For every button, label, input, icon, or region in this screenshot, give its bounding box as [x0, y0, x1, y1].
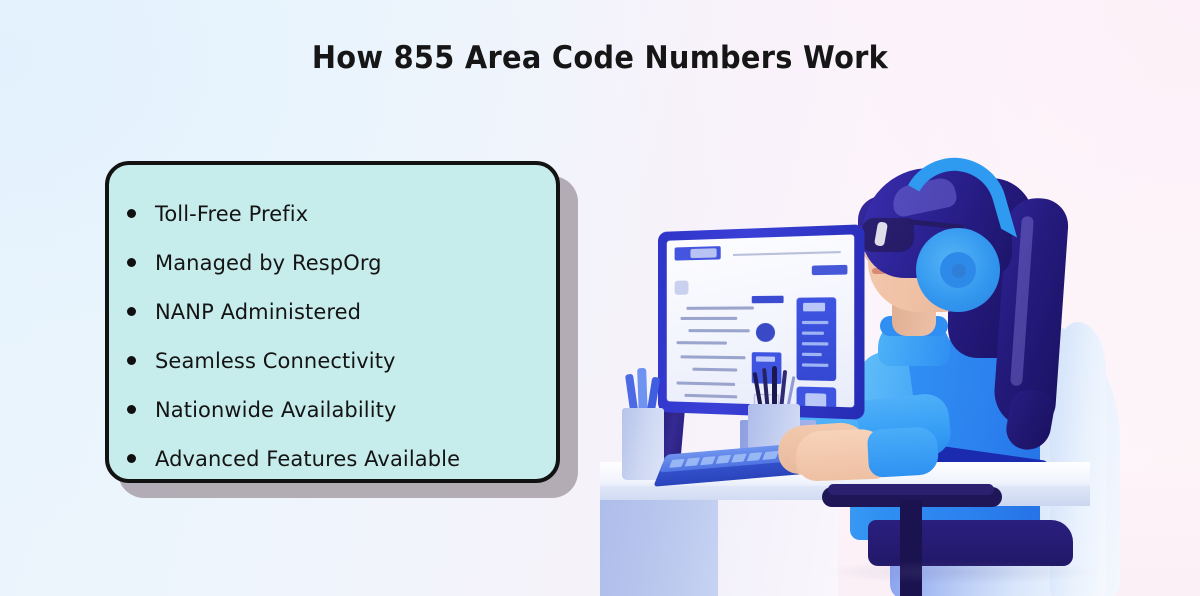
- list-item: Toll-Free Prefix: [109, 189, 556, 238]
- bullet-dot-icon: [127, 209, 136, 218]
- sweater-cuff: [867, 426, 939, 478]
- screen-avatar: [675, 280, 689, 294]
- floor-shadow: [820, 560, 1100, 584]
- bullet-label: NANP Administered: [155, 300, 361, 324]
- screen-logo-text: [690, 248, 716, 258]
- bullet-label: Advanced Features Available: [155, 447, 460, 471]
- bullet-dot-icon: [127, 405, 136, 414]
- bullet-dot-icon: [127, 454, 136, 463]
- screen-panel-row: [802, 353, 822, 356]
- feature-card: Toll-Free Prefix Managed by RespOrg NANP…: [105, 161, 560, 483]
- list-item: NANP Administered: [109, 287, 556, 336]
- screen-panel-row: [802, 342, 828, 345]
- bullet-label: Managed by RespOrg: [155, 251, 382, 275]
- screen-panel-row: [802, 363, 828, 367]
- desktop-monitor: [658, 224, 864, 419]
- desk-side-panel: [718, 500, 838, 596]
- keyboard-key: [700, 456, 716, 465]
- screen-text-line: [681, 355, 746, 359]
- keyboard-key: [732, 453, 748, 462]
- screen-text-line: [677, 381, 736, 386]
- bullet-label: Toll-Free Prefix: [155, 202, 308, 226]
- screen-footer-tile-inner: [805, 393, 826, 407]
- screen-text-line: [686, 306, 753, 309]
- screen-text-line: [692, 368, 737, 372]
- infographic-canvas: How 855 Area Code Numbers Work Toll-Free…: [0, 0, 1200, 596]
- list-item: Nationwide Availability: [109, 385, 556, 434]
- screen-title-chip: [752, 296, 784, 304]
- bullet-label: Nationwide Availability: [155, 398, 397, 422]
- headphone-earcup-core: [952, 264, 966, 278]
- screen-text-line: [688, 329, 749, 332]
- desk-leg-panel: [600, 500, 720, 596]
- screen-card-tile-label: [756, 356, 775, 362]
- keyboard-key: [747, 452, 763, 461]
- keyboard-key: [685, 457, 701, 466]
- list-item: Managed by RespOrg: [109, 238, 556, 287]
- list-item: Advanced Features Available: [109, 434, 556, 483]
- screen-text-line: [677, 341, 727, 344]
- bullet-dot-icon: [127, 356, 136, 365]
- screen-action-button: [812, 265, 848, 275]
- pen-cup-left: [622, 408, 664, 480]
- list-item: Seamless Connectivity: [109, 336, 556, 385]
- workspace-illustration: [600, 0, 1200, 596]
- bullet-dot-icon: [127, 307, 136, 316]
- screen-panel-row: [802, 321, 828, 324]
- bullet-label: Seamless Connectivity: [155, 349, 396, 373]
- screen-header-rule: [733, 251, 841, 256]
- keyboard-key: [763, 450, 779, 459]
- screen-text-line: [679, 406, 742, 408]
- office-chair-armrest-pad: [828, 484, 994, 495]
- keyboard-key: [716, 454, 732, 463]
- screen-text-line: [684, 394, 737, 399]
- screen-side-panel-header: [803, 303, 825, 312]
- screen-panel-row: [802, 332, 824, 335]
- monitor-screen: [667, 234, 854, 407]
- screen-globe-icon: [756, 323, 775, 342]
- bullet-dot-icon: [127, 258, 136, 267]
- feature-bullet-list: Toll-Free Prefix Managed by RespOrg NANP…: [109, 189, 556, 483]
- screen-text-line: [681, 317, 738, 320]
- keyboard-key: [669, 458, 685, 467]
